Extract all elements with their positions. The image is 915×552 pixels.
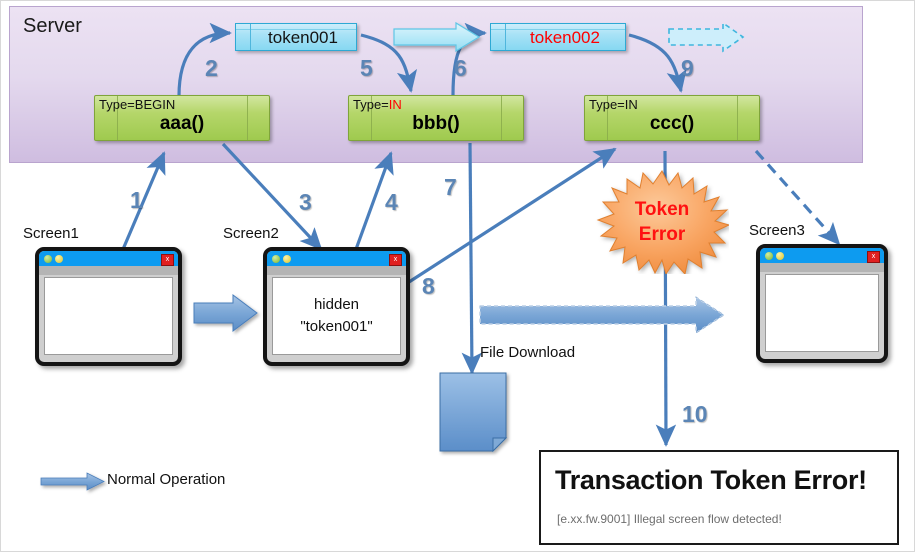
screen2-label: Screen2 — [223, 225, 279, 242]
step-number-10: 10 — [682, 401, 708, 428]
step-number-1: 1 — [130, 187, 143, 214]
arrow-step-8 — [409, 149, 615, 282]
process-type-prefix: Type= — [353, 97, 389, 112]
page-content: hidden "token001" — [272, 277, 401, 355]
title-bar: x — [267, 251, 406, 266]
step-number-9: 9 — [681, 55, 694, 82]
process-type-label: Type=IN — [589, 97, 638, 112]
step-number-8: 8 — [422, 273, 435, 300]
process-type-prefix: Type= — [589, 97, 625, 112]
title-bar: x — [760, 248, 884, 263]
process-type-value: IN — [625, 97, 638, 112]
process-box-bbb[interactable]: Type=IN bbb() — [348, 95, 524, 141]
process-box-ccc[interactable]: Type=IN ccc() — [584, 95, 760, 141]
process-type-value: IN — [389, 97, 402, 112]
process-box-aaa[interactable]: Type=BEGIN aaa() — [94, 95, 270, 141]
token-error-burst — [595, 169, 729, 274]
browser-window-screen1[interactable]: x — [35, 247, 182, 366]
process-type-value: BEGIN — [135, 97, 175, 112]
error-message-box: Transaction Token Error! [e.xx.fw.9001] … — [539, 450, 899, 545]
yellow-dot-icon — [55, 255, 63, 263]
token-divider — [505, 24, 506, 50]
title-bar: x — [39, 251, 178, 266]
server-label: Server — [23, 15, 82, 38]
token-divider — [250, 24, 251, 50]
diagram-canvas: Server — [0, 0, 915, 552]
error-title: Transaction Token Error! — [555, 465, 867, 496]
error-detail: [e.xx.fw.9001] Illegal screen flow detec… — [557, 512, 782, 526]
token-label: token001 — [254, 24, 352, 52]
toolbar-strip — [39, 266, 178, 275]
page-line-1: hidden — [314, 294, 359, 316]
step-number-7: 7 — [444, 174, 457, 201]
step-number-6: 6 — [454, 55, 467, 82]
screen3-label: Screen3 — [749, 222, 805, 239]
file-download-doc — [440, 373, 506, 451]
process-name: aaa() — [95, 111, 269, 137]
yellow-dot-icon — [283, 255, 291, 263]
close-icon[interactable]: x — [389, 254, 402, 266]
token-label: token002 — [509, 24, 621, 52]
step-number-3: 3 — [299, 189, 312, 216]
close-icon[interactable]: x — [867, 251, 880, 263]
process-type-label: Type=IN — [353, 97, 402, 112]
process-type-label: Type=BEGIN — [99, 97, 175, 112]
toolbar-strip — [267, 266, 406, 275]
process-name: bbb() — [349, 111, 523, 137]
process-type-prefix: Type= — [99, 97, 135, 112]
process-name: ccc() — [585, 111, 759, 137]
error-flow-arrow — [480, 297, 724, 333]
screen-transition-arrow — [194, 295, 257, 331]
legend-arrow — [41, 473, 104, 490]
file-download-label: File Download — [480, 344, 575, 361]
step-number-2: 2 — [205, 55, 218, 82]
arrow-step-7 — [470, 143, 472, 373]
page-line-2: "token001" — [300, 316, 372, 338]
page-content — [44, 277, 173, 355]
screen1-label: Screen1 — [23, 225, 79, 242]
token-box-token001[interactable]: token001 — [235, 23, 357, 51]
token-box-token002[interactable]: token002 — [490, 23, 626, 51]
browser-window-screen3[interactable]: x — [756, 244, 888, 363]
green-dot-icon — [272, 255, 280, 263]
browser-window-screen2[interactable]: x hidden "token001" — [263, 247, 410, 366]
toolbar-strip — [760, 263, 884, 272]
green-dot-icon — [765, 252, 773, 260]
page-content — [765, 274, 879, 352]
yellow-dot-icon — [776, 252, 784, 260]
green-dot-icon — [44, 255, 52, 263]
step-number-5: 5 — [360, 55, 373, 82]
close-icon[interactable]: x — [161, 254, 174, 266]
legend-label: Normal Operation — [107, 471, 225, 488]
step-number-4: 4 — [385, 189, 398, 216]
